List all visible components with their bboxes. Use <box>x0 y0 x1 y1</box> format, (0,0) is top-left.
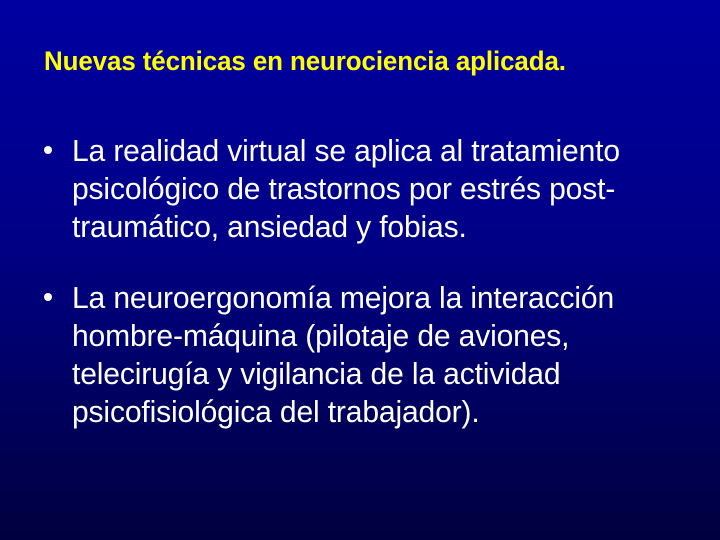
bullet-item-text: La neuroergonomía mejora la interacción … <box>72 279 679 431</box>
bullet-dot-icon <box>40 132 72 154</box>
bullet-item: La realidad virtual se aplica al tratami… <box>40 132 688 246</box>
bullet-line: hombre-máquina (pilotaje de aviones, <box>72 317 679 355</box>
bullet-item-text: La realidad virtual se aplica al tratami… <box>72 132 679 246</box>
presentation-slide: Nuevas técnicas en neurociencia aplicada… <box>0 0 720 540</box>
bullet-line: telecirugía y vigilancia de la actividad <box>72 355 679 393</box>
bullet-line: La realidad virtual se aplica al tratami… <box>72 132 679 170</box>
bullet-line: traumático, ansiedad y fobias. <box>72 208 679 246</box>
slide-title: Nuevas técnicas en neurociencia aplicada… <box>44 47 658 77</box>
bullet-line: psicológico de trastornos por estrés pos… <box>72 170 679 208</box>
bullet-line: La neuroergonomía mejora la interacción <box>72 279 679 317</box>
slide-body: La realidad virtual se aplica al tratami… <box>40 132 688 431</box>
bullet-item: La neuroergonomía mejora la interacción … <box>40 279 688 431</box>
bullet-line: psicofisiológica del trabajador). <box>72 393 679 431</box>
bullet-dot-icon <box>40 279 72 301</box>
